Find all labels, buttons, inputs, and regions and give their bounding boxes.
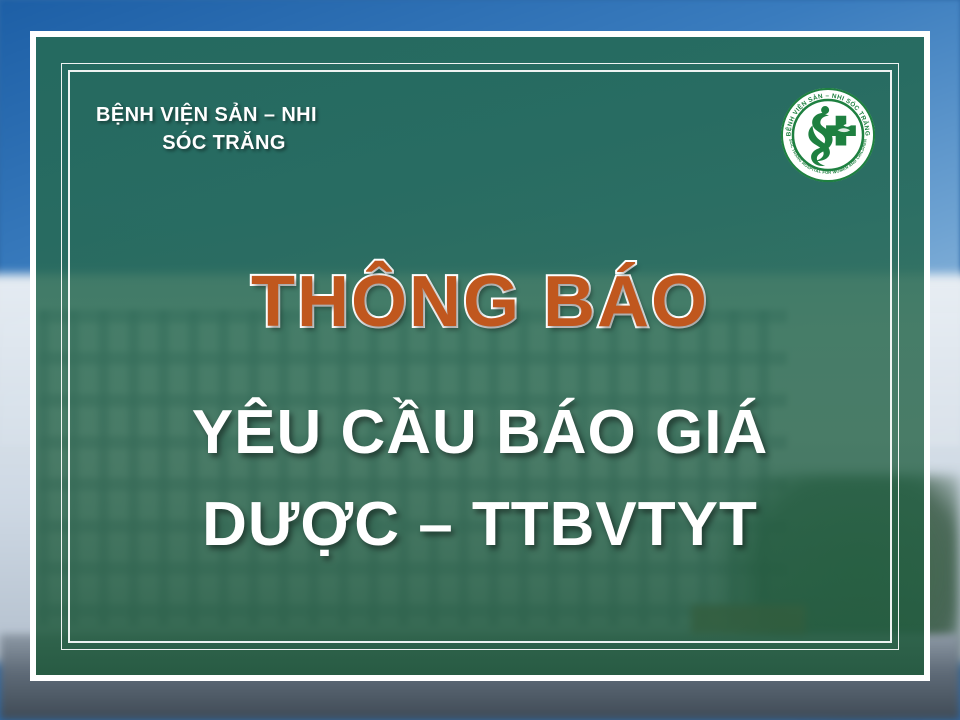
organization-name-line-2: SÓC TRĂNG: [92, 129, 422, 157]
poster-green-panel: BỆNH VIỆN SẢN – NHI SÓC TRĂNG BỆNH VIỆN …: [36, 37, 924, 675]
organization-name: BỆNH VIỆN SẢN – NHI SÓC TRĂNG: [92, 101, 422, 158]
hospital-seal-logo: BỆNH VIỆN SẢN – NHI SÓC TRĂNG SOC TRANG …: [780, 87, 876, 183]
poster-outer-frame: BỆNH VIỆN SẢN – NHI SÓC TRĂNG BỆNH VIỆN …: [30, 31, 930, 681]
organization-name-line-1: BỆNH VIỆN SẢN – NHI: [92, 101, 422, 129]
notice-heading: THÔNG BÁO: [36, 261, 924, 343]
subject-heading-line-1: YÊU CẦU BÁO GIÁ: [36, 397, 924, 468]
subject-heading-line-2: DƯỢC – TTBVTYT: [36, 489, 924, 560]
